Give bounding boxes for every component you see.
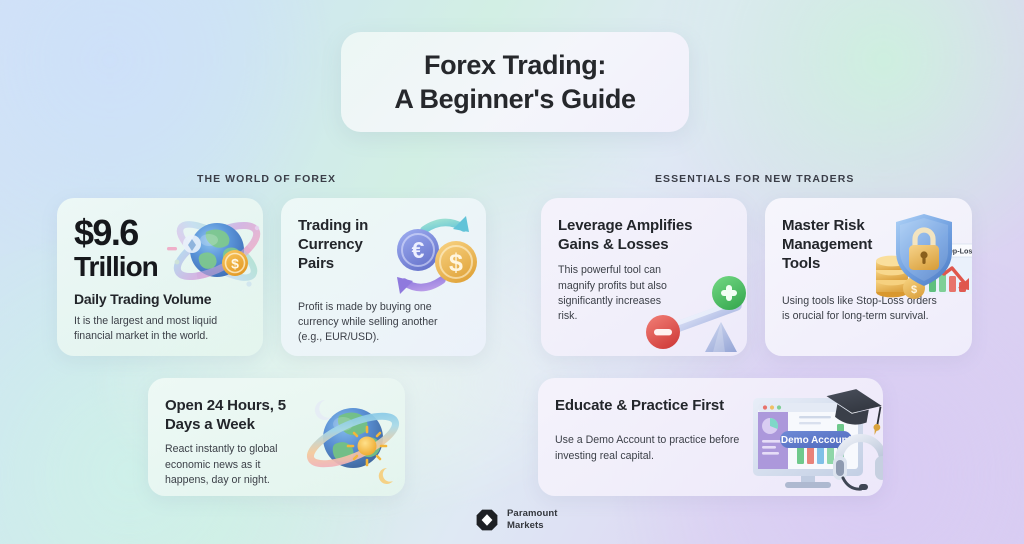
card-heading: Educate & Practice First <box>555 396 745 415</box>
page-title-line2: A Beginner's Guide <box>394 82 635 116</box>
card-body-text: Use a Demo Account to practice before in… <box>555 433 755 464</box>
brand-line-1: Paramount <box>507 508 558 519</box>
stat-subtitle: Daily Trading Volume <box>74 291 246 307</box>
brand-name: Paramount Markets <box>507 508 558 531</box>
card-daily-volume: $9.6 Trillion Daily Trading Volume It is… <box>57 198 263 356</box>
infographic-stage: Forex Trading: A Beginner's Guide THE WO… <box>0 0 1024 544</box>
footer-brand: Paramount Markets <box>475 508 558 532</box>
card-body-text: It is the largest and most liquid financ… <box>74 314 246 345</box>
card-body-text: Using tools like Stop-Loss orders is oru… <box>782 294 942 325</box>
card-body-text: React instantly to global economic news … <box>165 442 305 488</box>
stat-value: $9.6 <box>74 216 246 251</box>
card-body-text: This powerful tool can magnify profits b… <box>558 263 676 324</box>
card-leverage: Leverage Amplifies Gains & Losses This p… <box>541 198 747 356</box>
section-label-right: ESSENTIALS FOR NEW TRADERS <box>655 173 854 185</box>
section-label-left: THE WORLD OF FOREX <box>197 173 336 185</box>
brand-line-2: Markets <box>507 520 544 531</box>
card-heading: Leverage Amplifies Gains & Losses <box>558 216 708 254</box>
card-currency-pairs: Trading in Currency Pairs Profit is made… <box>281 198 486 356</box>
card-body-text: Profit is made by buying one currency wh… <box>298 300 458 346</box>
card-risk-management: Master Risk Management Tools Using tools… <box>765 198 972 356</box>
card-open-24-hours: Open 24 Hours, 5 Days a Week React insta… <box>148 378 405 496</box>
card-heading: Open 24 Hours, 5 Days a Week <box>165 396 310 434</box>
card-educate-practice: Educate & Practice First Use a Demo Acco… <box>538 378 883 496</box>
stat-unit: Trillion <box>74 253 246 281</box>
octagon-diamond-logo-icon <box>475 508 499 532</box>
title-card: Forex Trading: A Beginner's Guide <box>341 32 689 132</box>
card-heading: Master Risk Management Tools <box>782 216 892 274</box>
card-heading: Trading in Currency Pairs <box>298 216 394 274</box>
page-title-line1: Forex Trading: <box>424 48 606 82</box>
